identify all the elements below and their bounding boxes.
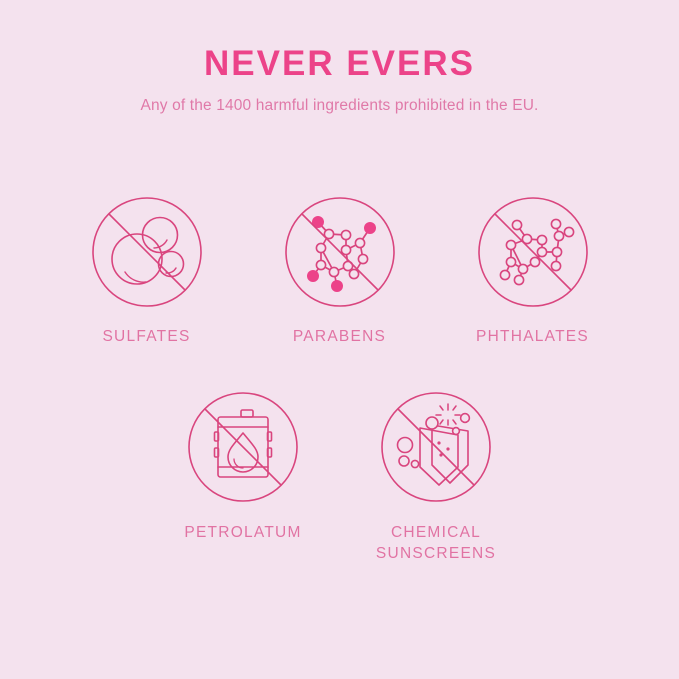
no-parabens-molecule-icon bbox=[284, 196, 396, 308]
badge-row-1: SULFATES bbox=[0, 196, 679, 348]
badge-label: CHEMICAL SUNSCREENS bbox=[376, 523, 496, 565]
no-chemical-sunscreens-icon bbox=[380, 391, 492, 503]
no-phthalates-molecule-icon bbox=[477, 196, 589, 308]
badge-chemical-sunscreens: CHEMICAL SUNSCREENS bbox=[340, 391, 533, 565]
badge-label: PHTHALATES bbox=[476, 327, 589, 348]
no-sulfates-bubbles-icon bbox=[91, 196, 203, 308]
badge-row-2: PETROLATUM bbox=[0, 391, 679, 565]
page-title: NEVER EVERS bbox=[0, 0, 679, 83]
badge-label: PARABENS bbox=[293, 327, 386, 348]
no-petrolatum-barrel-icon bbox=[187, 391, 299, 503]
page-subtitle: Any of the 1400 harmful ingredients proh… bbox=[0, 83, 679, 116]
badge-parabens: PARABENS bbox=[243, 196, 436, 348]
header: NEVER EVERS Any of the 1400 harmful ingr… bbox=[0, 0, 679, 115]
badge-label: PETROLATUM bbox=[184, 523, 301, 544]
badge-phthalates: PHTHALATES bbox=[436, 196, 629, 348]
badge-petrolatum: PETROLATUM bbox=[147, 391, 340, 565]
badge-label: SULFATES bbox=[102, 327, 190, 348]
page-root: NEVER EVERS Any of the 1400 harmful ingr… bbox=[0, 0, 679, 679]
badge-sulfates: SULFATES bbox=[50, 196, 243, 348]
